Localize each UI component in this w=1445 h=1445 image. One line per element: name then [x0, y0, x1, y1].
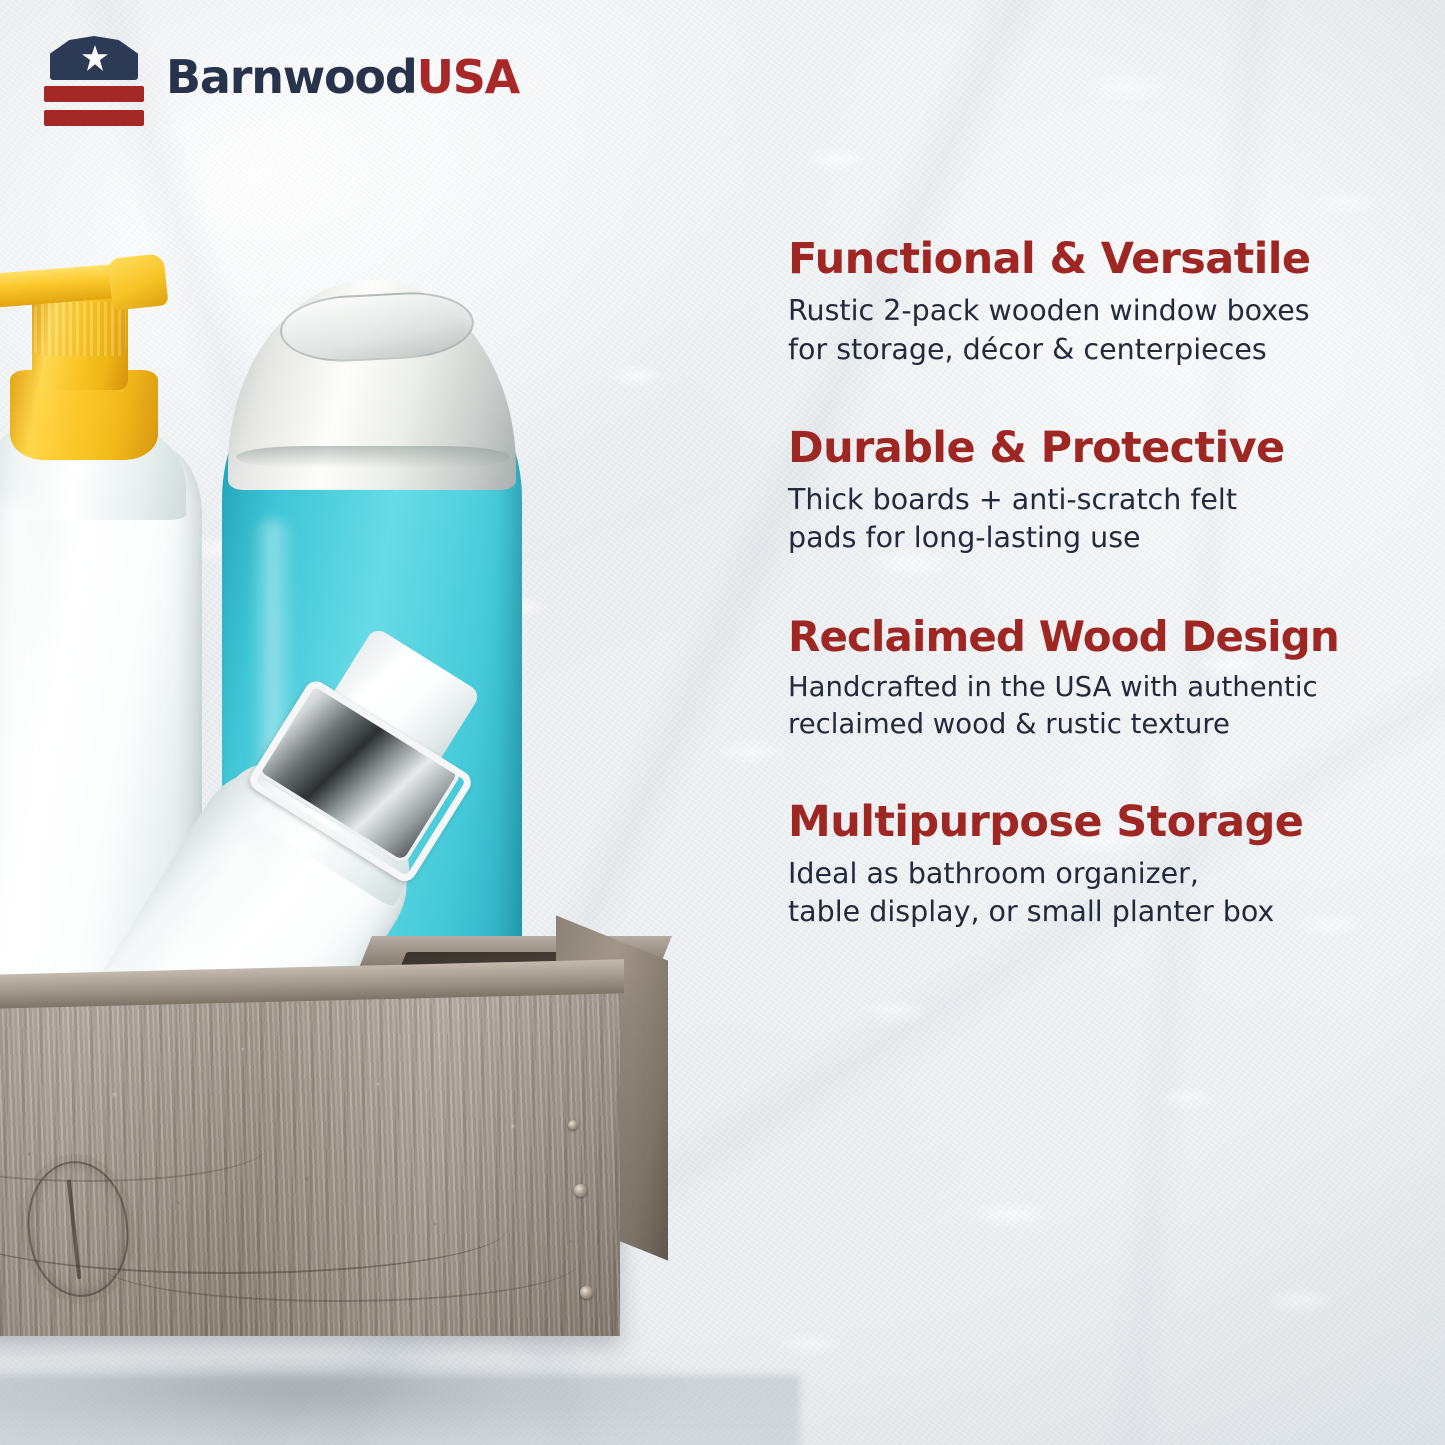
- brand-name-accent: USA: [417, 50, 519, 104]
- feature-item-durable: Durable & Protective Thick boards + anti…: [788, 425, 1438, 558]
- infographic-canvas: BarnwoodUSA: [0, 0, 1445, 1445]
- box-drop-shadow: [0, 1362, 720, 1445]
- feature-description: Thick boards + anti-scratch felt pads fo…: [788, 481, 1438, 557]
- feature-item-reclaimed-wood: Reclaimed Wood Design Handcrafted in the…: [788, 614, 1438, 743]
- feature-title: Durable & Protective: [788, 425, 1438, 471]
- feature-item-functional: Functional & Versatile Rustic 2-pack woo…: [788, 236, 1438, 369]
- feature-desc-line-2: reclaimed wood & rustic texture: [788, 706, 1438, 743]
- feature-desc-line-1: Ideal as bathroom organizer,: [788, 857, 1199, 890]
- feature-desc-line-2: for storage, décor & centerpieces: [788, 331, 1438, 369]
- pump-spout-tip: [107, 253, 168, 311]
- brand-name-primary: Barnwood: [166, 50, 417, 104]
- feature-title: Reclaimed Wood Design: [788, 614, 1438, 659]
- feature-description: Handcrafted in the USA with authentic re…: [788, 669, 1438, 743]
- feature-description: Ideal as bathroom organizer, table displ…: [788, 855, 1438, 931]
- box-screw-middle: [574, 1184, 587, 1197]
- feature-desc-line-1: Thick boards + anti-scratch felt: [788, 483, 1237, 516]
- feature-title: Multipurpose Storage: [788, 799, 1438, 845]
- feature-desc-line-1: Rustic 2-pack wooden window boxes: [788, 294, 1310, 327]
- barn-badge-star-icon: [44, 36, 144, 118]
- feature-list: Functional & Versatile Rustic 2-pack woo…: [788, 236, 1438, 931]
- box-front-panel: [0, 986, 620, 1336]
- product-photo: [0, 250, 740, 1440]
- box-screw-top: [568, 1120, 578, 1130]
- brand-logo: BarnwoodUSA: [44, 36, 519, 118]
- feature-title: Functional & Versatile: [788, 236, 1438, 282]
- feature-desc-line-1: Handcrafted in the USA with authentic: [788, 671, 1318, 703]
- teal-bottle-cap-lip: [236, 446, 510, 468]
- feature-desc-line-2: pads for long-lasting use: [788, 519, 1438, 557]
- brand-wordmark: BarnwoodUSA: [166, 54, 519, 100]
- wood-grain-line-2: [98, 1224, 578, 1302]
- box-screw-bottom: [580, 1286, 593, 1299]
- flag-stripe-lower: [44, 110, 144, 126]
- feature-item-multipurpose: Multipurpose Storage Ideal as bathroom o…: [788, 799, 1438, 932]
- feature-desc-line-2: table display, or small planter box: [788, 893, 1438, 931]
- barnwood-box: [0, 950, 698, 1370]
- feature-description: Rustic 2-pack wooden window boxes for st…: [788, 292, 1438, 368]
- pump-neck-ribbing: [34, 302, 126, 356]
- flag-stripe-upper: [44, 86, 144, 102]
